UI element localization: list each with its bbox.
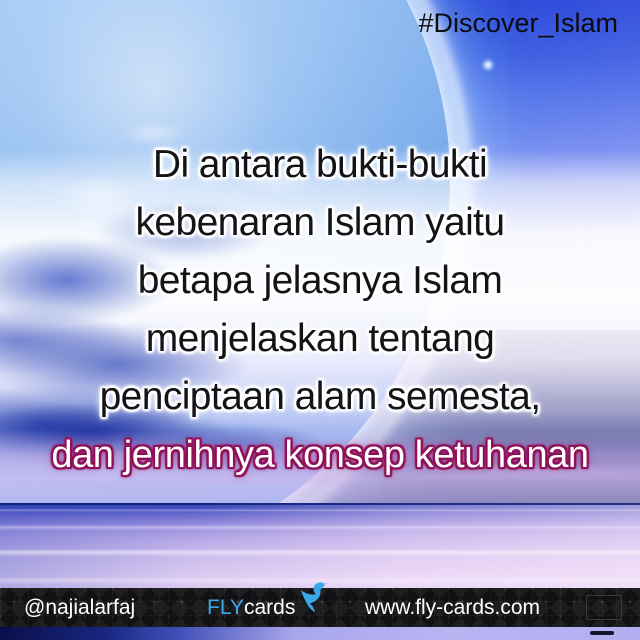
quote-line: Di antara bukti-bukti bbox=[0, 136, 640, 194]
quote-line: kebenaran Islam yaitu bbox=[0, 194, 640, 252]
indonesia-flag-icon bbox=[586, 595, 622, 620]
brand-logo[interactable]: FLYcards bbox=[207, 596, 295, 620]
quote-line-highlight: dan jernihnya konsep ketuhanan bbox=[0, 426, 640, 484]
website-url[interactable]: www.fly-cards.com bbox=[365, 596, 540, 620]
quote-line: penciptaan alam semesta, bbox=[0, 368, 640, 426]
bright-star-icon bbox=[480, 57, 496, 73]
footer-bar: @najialarfaj FLYcards www.fly-cards.com bbox=[0, 588, 640, 627]
bottom-photo-sliver bbox=[0, 627, 640, 640]
bird-icon bbox=[292, 581, 332, 615]
brand-prefix: FLY bbox=[207, 596, 244, 620]
quote-line: menjelaskan tentang bbox=[0, 310, 640, 368]
bottom-mark bbox=[590, 631, 614, 635]
quote-block: Di antara bukti-bukti kebenaran Islam ya… bbox=[0, 136, 640, 484]
hashtag-label: #Discover_Islam bbox=[418, 8, 618, 39]
brand-suffix: cards bbox=[244, 596, 295, 620]
quote-line: betapa jelasnya Islam bbox=[0, 252, 640, 310]
quote-card: #Discover_Islam Di antara bukti-bukti ke… bbox=[0, 0, 640, 640]
horizon-line bbox=[0, 503, 640, 505]
author-handle[interactable]: @najialarfaj bbox=[24, 596, 135, 620]
